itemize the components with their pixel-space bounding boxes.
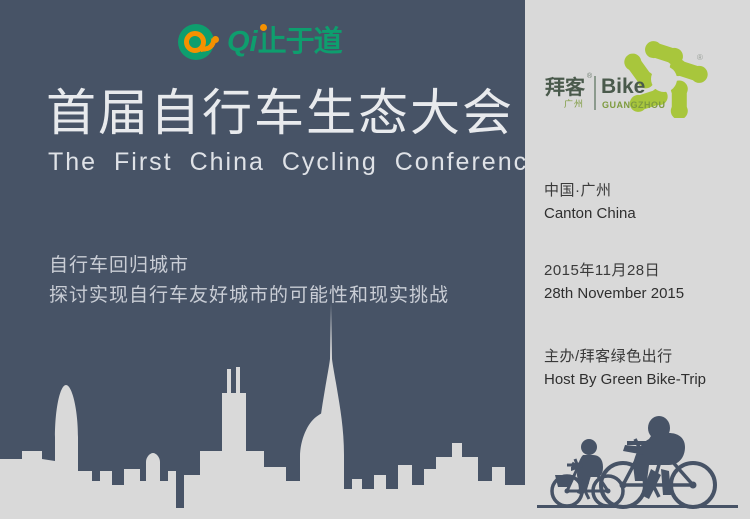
- bike-logo-chinese-city: 广州: [564, 100, 584, 109]
- bike-logo-english-city: GUANGZHOU: [602, 101, 666, 110]
- host-english: Host By Green Bike-Trip: [544, 369, 744, 392]
- qi-orange-dot: [212, 36, 219, 43]
- bike-logo-registered-mark: ®: [587, 73, 592, 80]
- qi-wordmark-cn: 止于道: [258, 26, 342, 58]
- date-chinese: 2015年11月28日: [544, 260, 744, 283]
- qi-wordmark-latin: Qi: [227, 26, 258, 58]
- host-chinese: 主办/拜客绿色出行: [544, 346, 744, 369]
- date-english: 28th November 2015: [544, 283, 744, 306]
- right-panel: ® 拜客 ® 广州 Bike GUANGZHOU 中国·广州 Canton Ch…: [525, 0, 750, 519]
- bike-logo-english-name: Bike: [601, 76, 645, 97]
- headline-chinese: 首届自行车生态大会: [46, 88, 514, 138]
- bike-guangzhou-logo: ® 拜客 ® 广州 Bike GUANGZHOU: [542, 40, 732, 118]
- location-chinese: 中国·广州: [544, 180, 744, 203]
- bike-logo-divider: [594, 76, 596, 110]
- location-english: Canton China: [544, 203, 744, 226]
- qi-infinity-mark-icon: [176, 22, 220, 62]
- bike-logo-chinese-name: 拜客: [545, 78, 585, 98]
- qi-logo: Qi止于道: [176, 22, 342, 62]
- chain-registered-mark: ®: [697, 53, 703, 62]
- host-block: 主办/拜客绿色出行 Host By Green Bike-Trip: [544, 346, 744, 391]
- headline-english: The First China Cycling Conference: [48, 150, 525, 175]
- left-panel: Qi止于道 首届自行车生态大会 The First China Cycling …: [0, 0, 525, 519]
- location-block: 中国·广州 Canton China: [544, 180, 744, 225]
- qi-wordmark: Qi止于道: [227, 28, 342, 57]
- subtitle-line-1: 自行车回归城市: [49, 253, 189, 279]
- conference-poster: Qi止于道 首届自行车生态大会 The First China Cycling …: [0, 0, 750, 519]
- guangzhou-city-skyline-silhouette: [0, 289, 525, 519]
- date-block: 2015年11月28日 28th November 2015: [544, 260, 744, 305]
- qi-i-dot-icon: [260, 24, 267, 31]
- two-cyclists-silhouette: [535, 415, 740, 511]
